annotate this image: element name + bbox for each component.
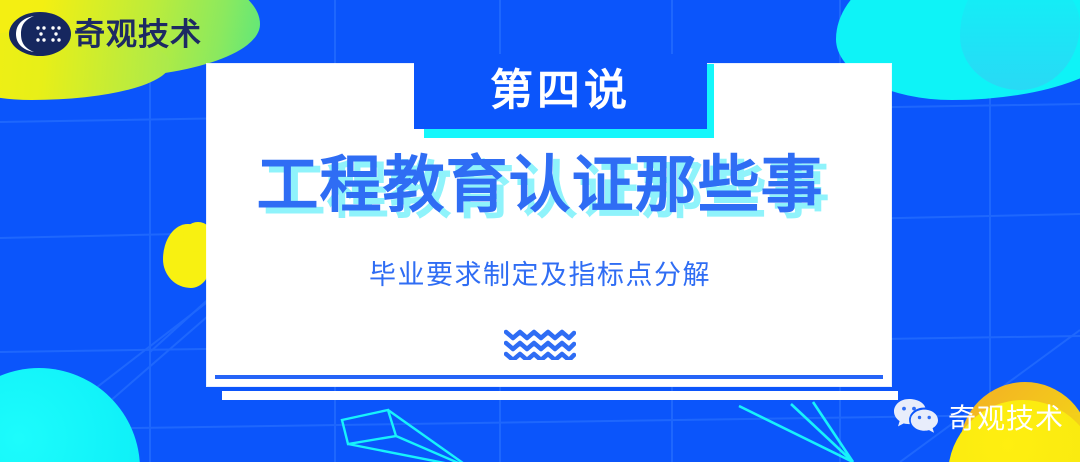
crescent-moon-dots-logo-icon: [8, 10, 72, 58]
wechat-icon: [893, 396, 939, 441]
cyan-blob-top-right-secondary: [960, 0, 1080, 90]
wechat-credit: 奇观技术: [893, 396, 1064, 441]
page-subtitle: 毕业要求制定及指标点分解: [0, 262, 1080, 289]
ribbon-label: 第四说: [490, 70, 631, 113]
brand-logo-text: 奇观技术: [74, 19, 202, 50]
presentation-slide: 奇观技术 第四说 工程教育认证那些事 毕业要求制定及指标点分解: [0, 0, 1080, 462]
wechat-account-name: 奇观技术: [948, 405, 1064, 433]
card-under-accent-bar: [222, 391, 898, 400]
brand-logo: 奇观技术: [8, 10, 202, 58]
page-title: 工程教育认证那些事: [0, 155, 1080, 217]
card-bottom-rule: [215, 375, 883, 379]
wave-divider: [0, 326, 1080, 365]
section-ribbon: 第四说: [414, 54, 707, 129]
cyan-circle-bottom-left: [0, 368, 140, 462]
zigzag-wave-divider-icon: [504, 326, 576, 365]
cyan-wireframe-box: [340, 398, 520, 462]
cyan-wireframe-rays: [735, 398, 905, 462]
